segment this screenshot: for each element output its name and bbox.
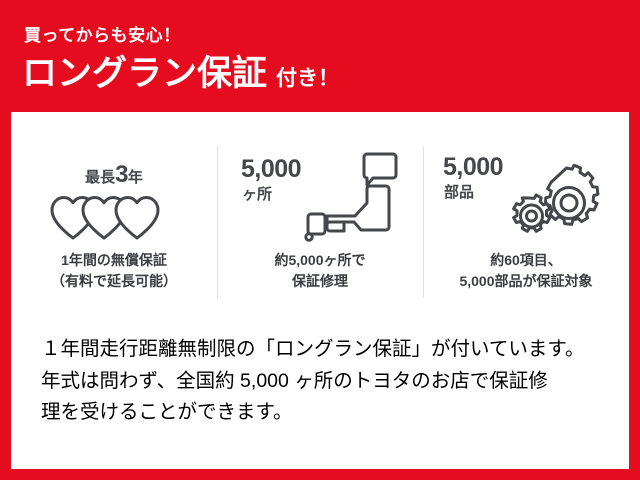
feature-caption-2: 約5,000ヶ所で 保証修理 [274,250,365,292]
feature-caption-1-line1: 1年間の無償保証 [51,250,177,271]
feature-covered-parts: 5,000 部品 [423,146,629,306]
feature-label-1-prefix: 最長 [85,169,115,186]
three-hearts-icon [49,193,179,241]
header-title-main: ロングラン保証 [22,56,267,91]
content-panel: 最長3年 1年間の無償保証 （有料で延長可能） [11,112,629,469]
body-line-2: 年式は問わず、全国約 5,000 ヶ所のトヨタのお店で保証修 [41,366,611,398]
feature-columns: 最長3年 1年間の無償保証 （有料で延長可能） [11,146,629,306]
feature-label-2-number: 5,000 [241,157,301,182]
feature-icon-area-2: 5,000 ヶ所 [225,146,415,246]
feature-caption-1: 1年間の無償保証 （有料で延長可能） [51,250,177,292]
feature-caption-3-line2: 5,000部品が保証対象 [459,271,592,292]
header-title: ロングラン保証 付き！ [22,56,339,91]
feature-caption-1-line2: （有料で延長可能） [51,271,177,292]
feature-caption-3-line1: 約60項目、 [459,250,592,271]
feature-service-locations: 5,000 ヶ所 [217,146,423,306]
feature-caption-3: 約60項目、 5,000部品が保証対象 [459,250,592,292]
longrun-warranty-banner: 買ってからも安心！ ロングラン保証 付き！ 最長3年 [0,0,640,480]
feature-label-3-number: 5,000 [443,155,503,180]
header-title-suffix: 付き！ [276,68,339,89]
gears-icon [507,164,603,242]
feature-caption-2-line2: 保証修理 [274,271,365,292]
body-description: １年間走行距離無制限の「ロングラン保証」が付いています。 年式は問わず、全国約 … [41,334,611,429]
body-line-1: １年間走行距離無制限の「ロングラン保証」が付いています。 [41,334,611,366]
banner-header: 買ってからも安心！ ロングラン保証 付き！ [0,0,640,112]
feature-label-1: 最長3年 [19,163,209,187]
feature-label-3-sub: 部品 [444,185,474,200]
feature-label-1-suffix: 年 [128,169,143,186]
feature-label-2-sub: ヶ所 [242,187,272,202]
body-line-3: 理を受けることができます。 [41,397,611,429]
feature-warranty-term: 最長3年 1年間の無償保証 （有料で延長可能） [11,146,217,306]
japan-map-icon [303,150,399,242]
feature-caption-2-line1: 約5,000ヶ所で [274,250,365,271]
feature-icon-area-1: 最長3年 [19,146,209,246]
header-kicker-text: 買ってからも安心！ [24,27,181,44]
feature-icon-area-3: 5,000 部品 [431,146,621,246]
feature-label-1-number: 3 [115,161,128,188]
